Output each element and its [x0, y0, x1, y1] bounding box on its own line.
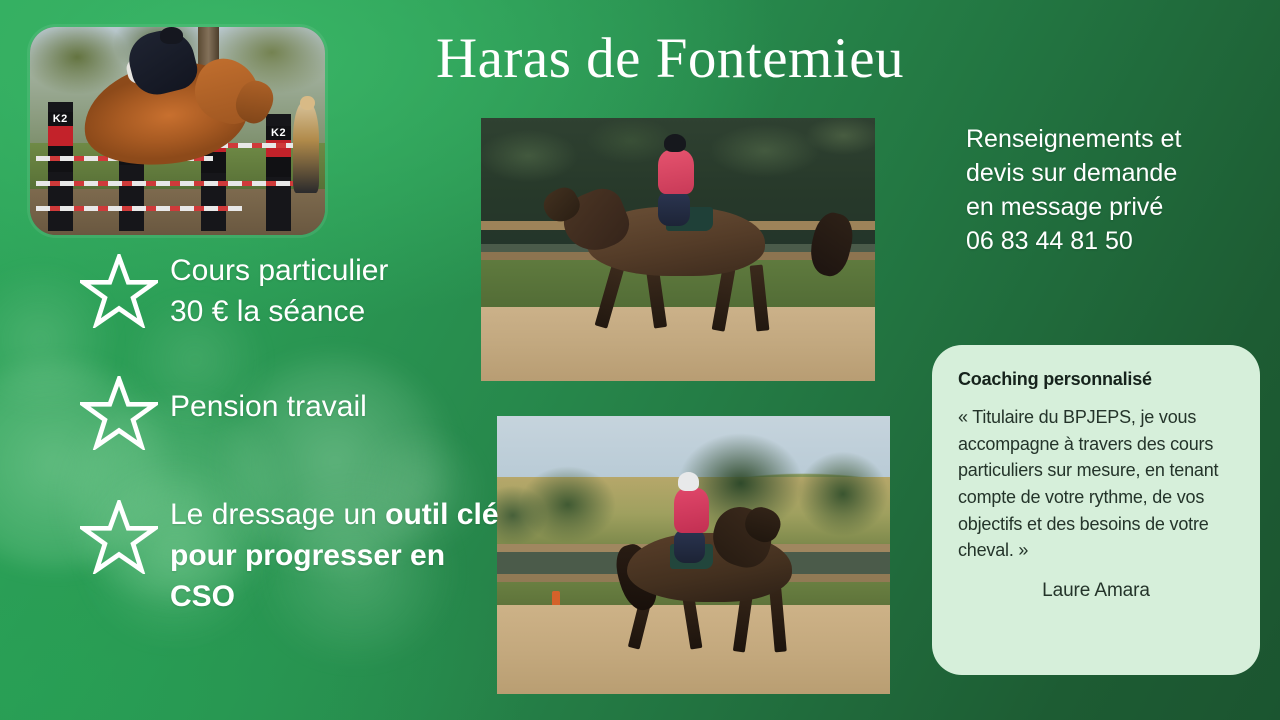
star-outline-icon — [80, 254, 158, 328]
arena-trot-photo — [481, 118, 875, 381]
page-title: Haras de Fontemieu — [350, 28, 990, 91]
show-jumping-photo: K2 K2 K2 K2 — [30, 27, 325, 235]
k2-sign: K2 — [266, 126, 291, 177]
jump-rail — [36, 181, 316, 186]
k2-sign: K2 — [48, 112, 73, 171]
offer-text: Pension travail — [170, 370, 367, 427]
list-item: Cours particulier 30 € la séance — [80, 248, 510, 332]
jump-rail — [36, 206, 243, 211]
star-outline-icon — [80, 376, 158, 450]
contact-phone[interactable]: 06 83 44 81 50 — [966, 224, 1266, 258]
poster-canvas: Haras de Fontemieu K2 K2 K2 — [0, 0, 1280, 720]
contact-line-2: devis sur demande — [966, 156, 1266, 190]
offer-text: Le dressage un outil clé pour progresser… — [170, 494, 510, 617]
contact-block: Renseignements et devis sur demande en m… — [966, 122, 1266, 258]
rider-torso — [674, 488, 709, 532]
rider-helmet — [678, 472, 700, 491]
rider-helmet — [664, 134, 686, 152]
offer-line-1: Pension travail — [170, 390, 367, 423]
rider-legs — [674, 530, 705, 563]
testimonial-title: Coaching personnalisé — [958, 369, 1234, 390]
hills-trot-photo — [497, 416, 890, 694]
spectator-head — [300, 96, 315, 111]
jump-standard: K2 — [48, 102, 73, 231]
list-item: Le dressage un outil clé pour progresser… — [80, 494, 510, 617]
offer-line-2: 30 € la séance — [170, 295, 365, 328]
offer-text: Cours particulier 30 € la séance — [170, 248, 388, 332]
testimonial-author: Laure Amara — [958, 580, 1234, 602]
testimonial-card: Coaching personnalisé « Titulaire du BPJ… — [932, 345, 1260, 675]
k2-sign-label: K2 — [48, 112, 73, 125]
rider-torso — [658, 150, 693, 195]
photo-arena-sand — [481, 307, 875, 381]
offer-line-1: Cours particulier — [170, 254, 388, 287]
list-item: Pension travail — [80, 370, 510, 450]
star-outline-icon — [80, 500, 158, 574]
offers-list: Cours particulier 30 € la séance Pension… — [80, 248, 510, 655]
contact-line-3: en message privé — [966, 190, 1266, 224]
training-cone — [552, 591, 560, 605]
jump-standard: K2 — [266, 114, 291, 230]
contact-line-1: Renseignements et — [966, 122, 1266, 156]
spectator — [293, 102, 320, 194]
offer-line-1: Le dressage un — [170, 498, 385, 531]
testimonial-quote: « Titulaire du BPJEPS, je vous accompagn… — [958, 404, 1234, 564]
k2-sign-label: K2 — [266, 126, 291, 139]
rider-helmet — [160, 27, 184, 44]
rider-legs — [658, 192, 690, 226]
k2-sign-red-band — [48, 126, 73, 146]
